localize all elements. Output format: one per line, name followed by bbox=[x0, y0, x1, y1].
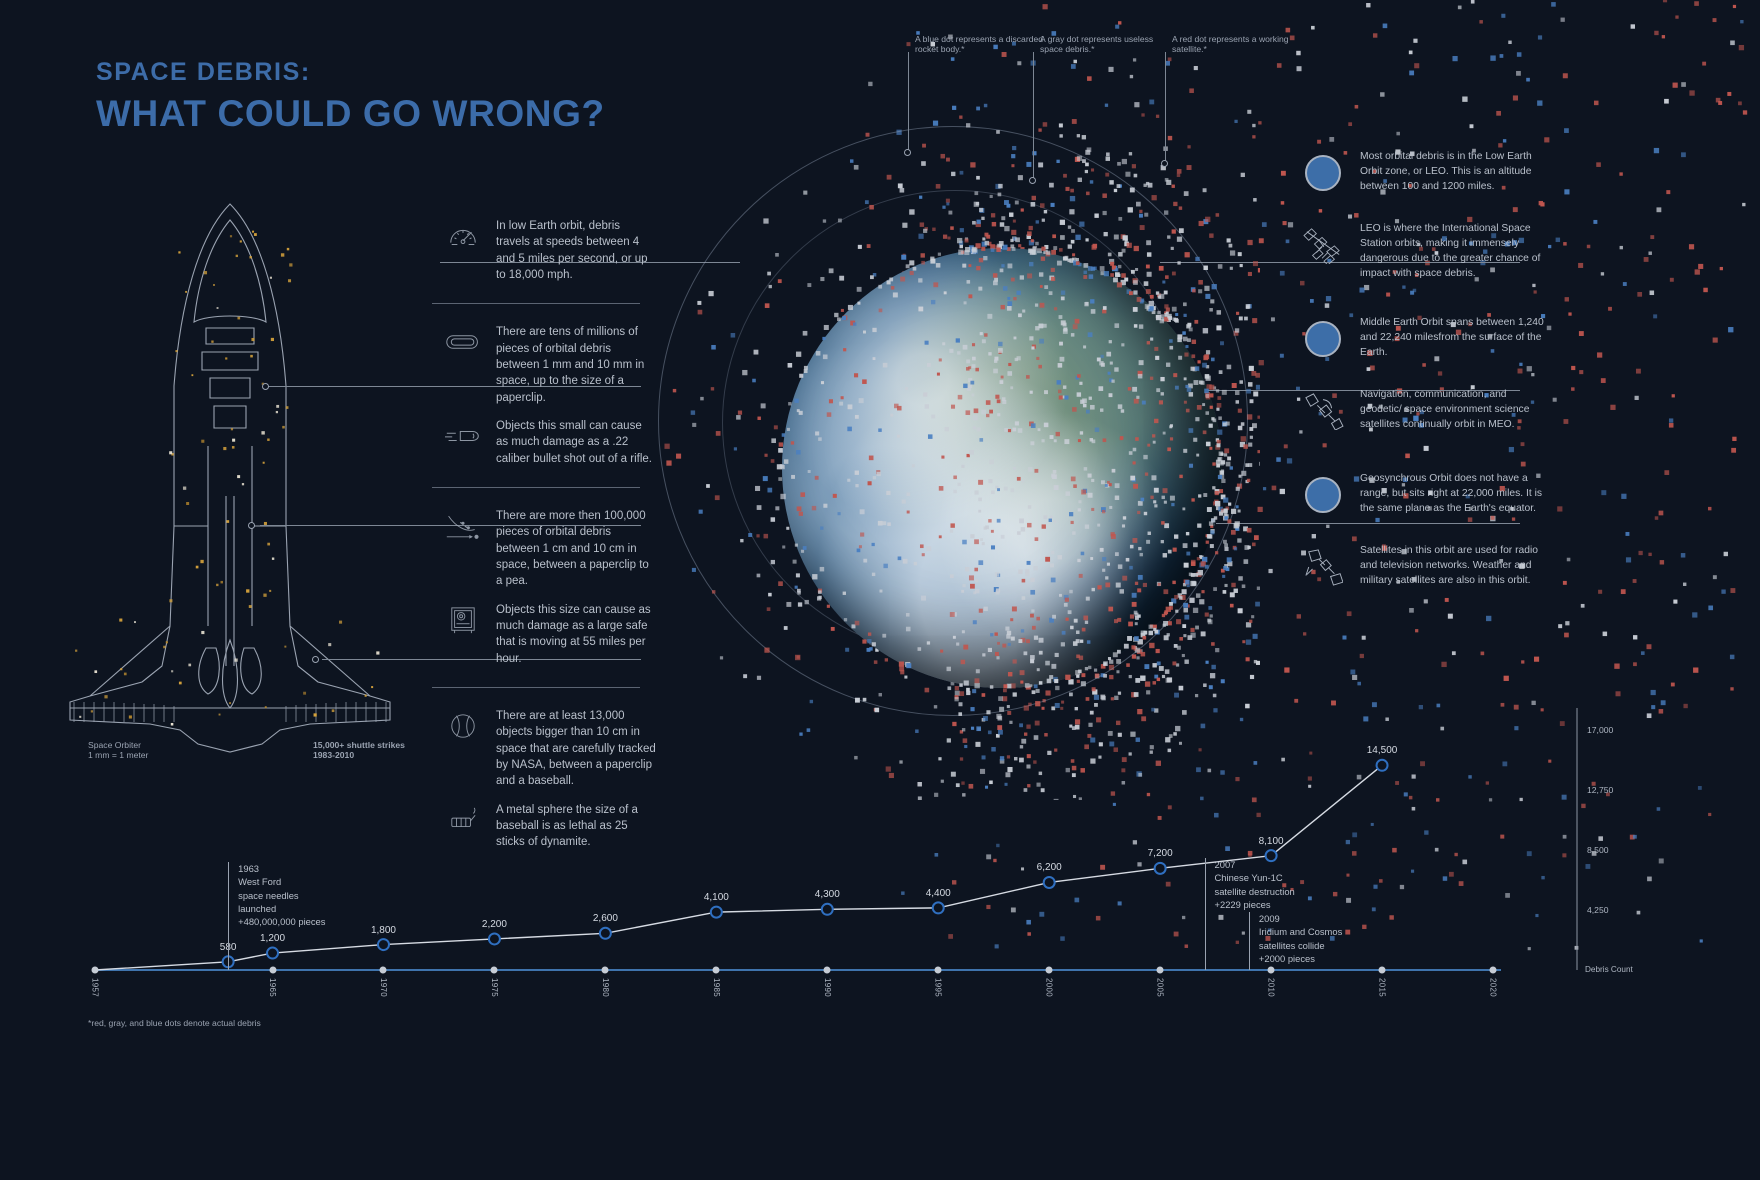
legend-item-geo-use: Satellites in this orbit are used for ra… bbox=[1300, 544, 1550, 590]
shuttle-node-upper bbox=[262, 383, 269, 390]
legend-text: Navigation, communication, and geodetic/… bbox=[1360, 388, 1550, 433]
legend-item-meo: Middle Earth Orbit spans between 1,240 a… bbox=[1300, 316, 1550, 362]
annotation-line: Chinese Yun-1C bbox=[1215, 871, 1295, 884]
fact-divider bbox=[432, 487, 640, 488]
title-line-1: SPACE DEBRIS: bbox=[96, 58, 605, 87]
x-axis-year-label: 1980 bbox=[601, 978, 610, 997]
annotation-stem bbox=[228, 862, 229, 970]
red-dot-callout: A red dot represents a working satellite… bbox=[1172, 34, 1302, 54]
x-axis-year-label: 1965 bbox=[268, 978, 277, 997]
y-axis-title: Debris Count bbox=[1585, 965, 1633, 974]
legend-item-meo-use: Navigation, communication, and geodetic/… bbox=[1300, 388, 1550, 434]
debris-count-timeline-chart: 1957196519701975198019851990199520002005… bbox=[85, 690, 1685, 1020]
annotation-line: satellites collide bbox=[1259, 939, 1342, 952]
annotation-text: 2009Iridium and Cosmossatellites collide… bbox=[1259, 912, 1342, 965]
fact-group-mm: There are tens of millions of pieces of … bbox=[444, 318, 656, 488]
callout-node-blue bbox=[904, 149, 911, 156]
legend-item-geo: Geosynchrous Orbit does not have a range… bbox=[1300, 472, 1550, 518]
legend-text: Middle Earth Orbit spans between 1,240 a… bbox=[1360, 316, 1550, 361]
page-title: SPACE DEBRIS: WHAT COULD GO WRONG? bbox=[96, 58, 605, 135]
pea-trajectory-icon bbox=[444, 508, 482, 544]
axis-tick-node bbox=[1157, 967, 1164, 974]
shuttle-node-lower bbox=[312, 656, 319, 663]
annotation-line: +480,000,000 pieces bbox=[238, 915, 325, 928]
fact-item: There are tens of millions of pieces of … bbox=[444, 318, 656, 412]
chart-plot-area bbox=[85, 690, 1685, 1020]
axis-tick-node bbox=[935, 967, 942, 974]
blue-disc-icon bbox=[1300, 316, 1346, 362]
annotation-line: satellite destruction bbox=[1215, 885, 1295, 898]
bullet-icon bbox=[444, 418, 482, 454]
data-point-label: 14,500 bbox=[1367, 745, 1398, 756]
y-axis-tick-label: 4,250 bbox=[1587, 905, 1609, 915]
legend-item-iss: LEO is where the International Space Sta… bbox=[1300, 222, 1550, 282]
annotation-stem bbox=[1205, 858, 1206, 970]
axis-tick-node bbox=[491, 967, 498, 974]
blue-disc-icon bbox=[1300, 472, 1346, 518]
y-axis-tick-label: 12,750 bbox=[1587, 785, 1613, 795]
legend-item-leo: Most orbital debris is in the Low Earth … bbox=[1300, 150, 1550, 196]
fact-text: Objects this small can cause as much dam… bbox=[496, 418, 656, 467]
x-axis-year-label: 2020 bbox=[1489, 978, 1498, 997]
annotation-line: Iridium and Cosmos bbox=[1259, 925, 1342, 938]
data-point-label: 2,600 bbox=[593, 913, 618, 924]
paperclip-icon bbox=[444, 324, 482, 360]
space-shuttle-diagram bbox=[30, 196, 430, 756]
data-point-label: 1,200 bbox=[260, 933, 285, 944]
axis-tick-node bbox=[380, 967, 387, 974]
shuttle-node-mid bbox=[248, 522, 255, 529]
axis-tick-node bbox=[713, 967, 720, 974]
data-point-label: 6,200 bbox=[1037, 862, 1062, 873]
earth-debris-visualization bbox=[640, 0, 1260, 800]
callout-text: A blue dot represents a discarded rocket… bbox=[915, 34, 1045, 54]
fact-divider bbox=[432, 687, 640, 688]
x-axis-year-label: 1990 bbox=[823, 978, 832, 997]
blue-dot-callout: A blue dot represents a discarded rocket… bbox=[915, 34, 1045, 54]
annotation-line: 2009 bbox=[1259, 912, 1342, 925]
x-axis-year-label: 2010 bbox=[1267, 978, 1276, 997]
space-station-icon bbox=[1300, 222, 1346, 268]
fact-item: There are more then 100,000 pieces of or… bbox=[444, 502, 656, 596]
data-point-label: 8,100 bbox=[1259, 836, 1284, 847]
legend-text: Satellites in this orbit are used for ra… bbox=[1360, 544, 1550, 589]
annotation-stem bbox=[1249, 912, 1250, 970]
data-point-label: 1,800 bbox=[371, 925, 396, 936]
callout-stem-gray bbox=[1033, 52, 1034, 179]
data-point-label: 4,400 bbox=[926, 888, 951, 899]
fact-text: In low Earth orbit, debris travels at sp… bbox=[496, 218, 656, 283]
gray-dot-callout: A gray dot represents useless space debr… bbox=[1040, 34, 1170, 54]
data-point-label: 7,200 bbox=[1148, 848, 1173, 859]
blue-disc-icon bbox=[1300, 150, 1346, 196]
axis-tick-node bbox=[1379, 967, 1386, 974]
annotation-text: 1963West Fordspace needleslaunched+480,0… bbox=[238, 862, 325, 929]
legend-text: Geosynchrous Orbit does not have a range… bbox=[1360, 472, 1550, 517]
orbit-legend: Most orbital debris is in the Low Earth … bbox=[1300, 150, 1550, 616]
data-point-label: 4,300 bbox=[815, 889, 840, 900]
legend-text: Most orbital debris is in the Low Earth … bbox=[1360, 150, 1550, 195]
callout-text: A gray dot represents useless space debr… bbox=[1040, 34, 1170, 54]
y-axis-tick-label: 8,500 bbox=[1587, 845, 1609, 855]
fact-text: There are tens of millions of pieces of … bbox=[496, 324, 656, 406]
annotation-line: +2229 pieces bbox=[1215, 898, 1295, 911]
callout-stem-red bbox=[1165, 52, 1166, 162]
axis-tick-node bbox=[92, 967, 99, 974]
x-axis-year-label: 2015 bbox=[1378, 978, 1387, 997]
y-axis-tick-label: 17,000 bbox=[1587, 725, 1613, 735]
callout-node-red bbox=[1161, 160, 1168, 167]
fact-group-speed: In low Earth orbit, debris travels at sp… bbox=[444, 212, 656, 304]
x-axis-year-label: 1985 bbox=[712, 978, 721, 997]
x-axis-year-label: 2005 bbox=[1156, 978, 1165, 997]
fact-item: Objects this size can cause as much dama… bbox=[444, 596, 656, 673]
earth-globe bbox=[782, 248, 1222, 688]
x-axis-year-label: 1995 bbox=[934, 978, 943, 997]
axis-tick-node bbox=[1268, 967, 1275, 974]
axis-tick-node bbox=[824, 967, 831, 974]
speedometer-icon bbox=[444, 218, 482, 254]
fact-text: Objects this size can cause as much dama… bbox=[496, 602, 656, 667]
axis-tick-node bbox=[269, 967, 276, 974]
callout-stem-blue bbox=[908, 52, 909, 152]
annotation-line: 1963 bbox=[238, 862, 325, 875]
fact-item: In low Earth orbit, debris travels at sp… bbox=[444, 212, 656, 289]
legend-text: LEO is where the International Space Sta… bbox=[1360, 222, 1550, 282]
x-axis-year-label: 2000 bbox=[1045, 978, 1054, 997]
annotation-line: space needles bbox=[238, 889, 325, 902]
data-point-label: 2,200 bbox=[482, 919, 507, 930]
axis-tick-node bbox=[1490, 967, 1497, 974]
fact-divider bbox=[432, 303, 640, 304]
safe-icon bbox=[444, 602, 482, 638]
fact-item: Objects this small can cause as much dam… bbox=[444, 412, 656, 473]
annotation-line: launched bbox=[238, 902, 325, 915]
x-axis-year-label: 1975 bbox=[490, 978, 499, 997]
axis-tick-node bbox=[602, 967, 609, 974]
x-axis-year-label: 1970 bbox=[379, 978, 388, 997]
callout-node-gray bbox=[1029, 177, 1036, 184]
annotation-line: +2000 pieces bbox=[1259, 952, 1342, 965]
data-point-label: 4,100 bbox=[704, 892, 729, 903]
annotation-text: 2007Chinese Yun-1Csatellite destruction+… bbox=[1215, 858, 1295, 911]
axis-tick-node bbox=[1046, 967, 1053, 974]
footnote: *red, gray, and blue dots denote actual … bbox=[88, 1018, 261, 1028]
callout-text: A red dot represents a working satellite… bbox=[1172, 34, 1302, 54]
annotation-line: West Ford bbox=[238, 875, 325, 888]
fact-group-cm: There are more then 100,000 pieces of or… bbox=[444, 502, 656, 688]
fact-text: There are more then 100,000 pieces of or… bbox=[496, 508, 656, 590]
infographic-canvas: SPACE DEBRIS: WHAT COULD GO WRONG? bbox=[0, 0, 1760, 1180]
x-axis-year-label: 1957 bbox=[91, 978, 100, 997]
satellite-dish-icon bbox=[1300, 544, 1346, 590]
satellite-icon bbox=[1300, 388, 1346, 434]
title-line-2: WHAT COULD GO WRONG? bbox=[96, 93, 605, 135]
annotation-line: 2007 bbox=[1215, 858, 1295, 871]
